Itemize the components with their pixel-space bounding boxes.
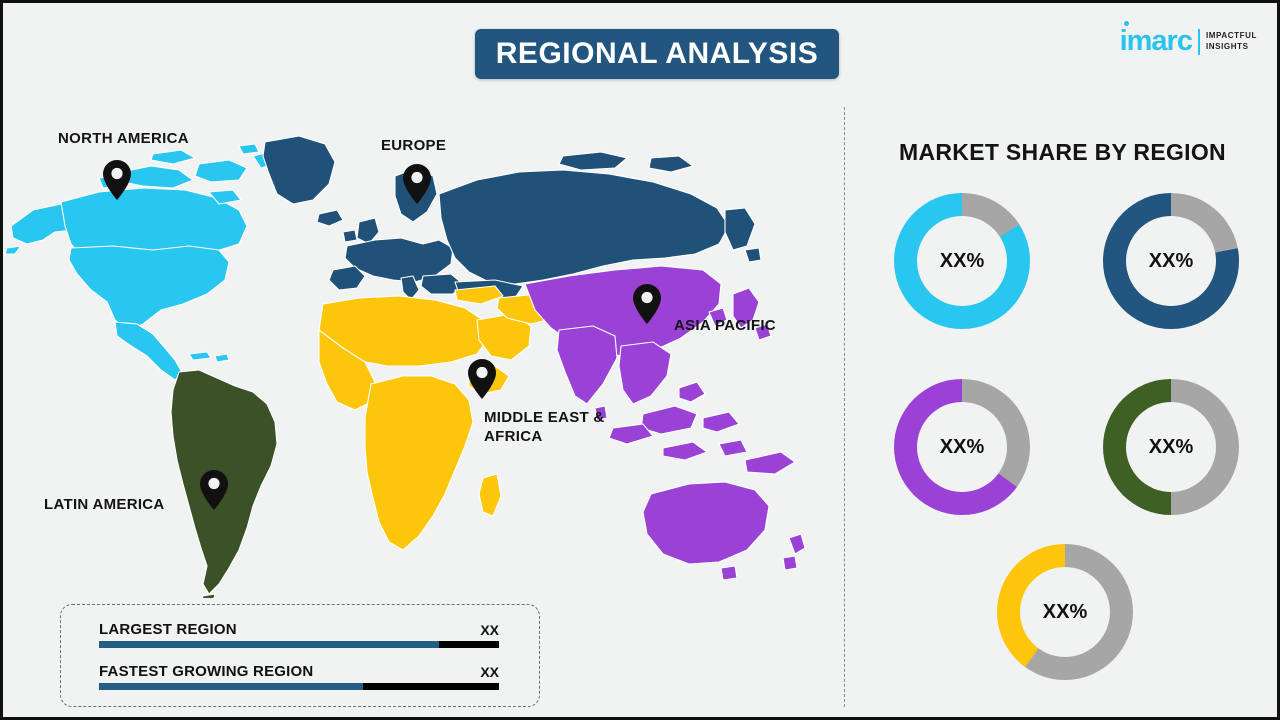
legend-row-fastest-growing-region: FASTEST GROWING REGION XX [99, 663, 499, 690]
map-label-middle-east-africa: MIDDLE EAST & AFRICA [484, 408, 605, 446]
donut-value: XX% [940, 436, 984, 459]
page-title-banner: REGIONAL ANALYSIS [475, 29, 839, 79]
donut-chart-europe: XX% [1103, 193, 1239, 329]
legend-bar-track [99, 641, 499, 648]
legend-label: LARGEST REGION [99, 621, 237, 638]
donut-hole: XX% [917, 216, 1007, 306]
donut-hole: XX% [1020, 567, 1110, 657]
brand-logo: imarc IMPACTFUL INSIGHTS [1120, 27, 1257, 56]
logo-tagline-line1: IMPACTFUL [1206, 31, 1257, 42]
map-label-north-america: NORTH AMERICA [58, 129, 189, 148]
logo-wordmark: imarc [1120, 27, 1192, 56]
donut-chart-north-america: XX% [894, 193, 1030, 329]
market-share-title: MARKET SHARE BY REGION [845, 139, 1280, 166]
legend-value: XX [480, 664, 499, 680]
map-pin-north-america-icon[interactable] [102, 159, 132, 201]
donut-hole: XX% [1126, 216, 1216, 306]
donut-value: XX% [1043, 601, 1087, 624]
legend-row-largest-region: LARGEST REGION XX [99, 621, 499, 648]
donut-chart-asia-pacific: XX% [894, 379, 1030, 515]
donut-hole: XX% [1126, 402, 1216, 492]
page-title: REGIONAL ANALYSIS [496, 37, 818, 71]
legend-bar-fill [99, 641, 439, 648]
market-share-panel: MARKET SHARE BY REGION XX% XX% XX% XX% [845, 107, 1280, 707]
legend-head: LARGEST REGION XX [99, 621, 499, 638]
region-ranking-box: LARGEST REGION XX FASTEST GROWING REGION… [60, 604, 540, 707]
legend-bar-fill [99, 683, 363, 690]
donut-value: XX% [940, 250, 984, 273]
logo-tagline: IMPACTFUL INSIGHTS [1206, 31, 1257, 53]
map-label-asia-pacific: ASIA PACIFIC [674, 316, 776, 335]
legend-head: FASTEST GROWING REGION XX [99, 663, 499, 680]
map-pin-europe-icon[interactable] [402, 163, 432, 205]
logo-tagline-line2: INSIGHTS [1206, 42, 1257, 53]
map-label-europe: EUROPE [381, 136, 446, 155]
donut-value: XX% [1149, 436, 1193, 459]
logo-divider [1198, 29, 1200, 55]
legend-label: FASTEST GROWING REGION [99, 663, 313, 680]
donut-chart-middle-east-africa: XX% [997, 544, 1133, 680]
logo-word-text: imarc [1120, 25, 1192, 57]
donut-hole: XX% [917, 402, 1007, 492]
map-pin-middle-east-africa-icon[interactable] [467, 358, 497, 400]
legend-bar-track [99, 683, 499, 690]
map-pin-latin-america-icon[interactable] [199, 469, 229, 511]
map-label-latin-america: LATIN AMERICA [44, 495, 165, 514]
map-pin-asia-pacific-icon[interactable] [632, 283, 662, 325]
map-region-north-america [5, 144, 275, 380]
donut-value: XX% [1149, 250, 1193, 273]
legend-value: XX [480, 622, 499, 638]
logo-dot-icon [1124, 21, 1129, 26]
infographic-canvas: REGIONAL ANALYSIS imarc IMPACTFUL INSIGH… [0, 0, 1280, 720]
donut-chart-latin-america: XX% [1103, 379, 1239, 515]
